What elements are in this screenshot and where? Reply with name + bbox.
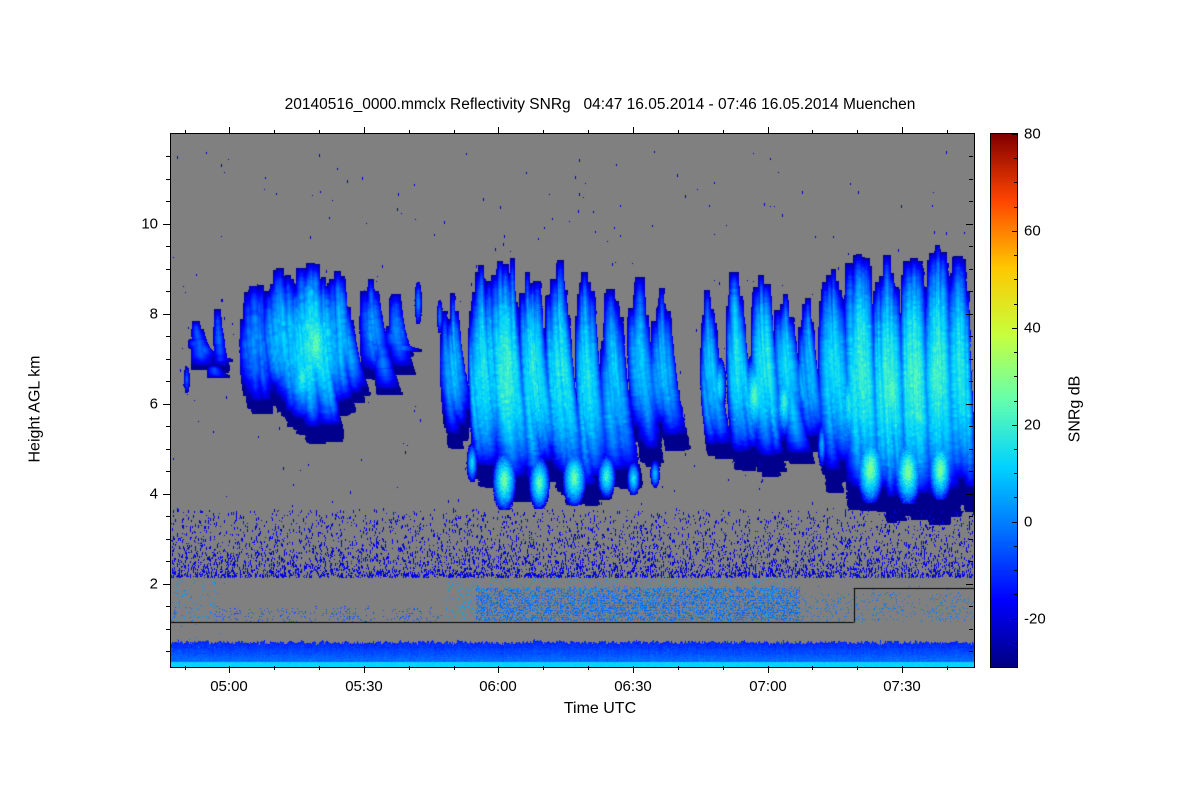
y-tick-minor-right (969, 359, 973, 360)
colorbar-tick (1012, 328, 1017, 329)
x-tick-major-top (229, 127, 230, 134)
x-tick-minor-top (543, 130, 544, 134)
y-tick-minor (166, 516, 170, 517)
y-tick-minor-right (969, 629, 973, 630)
colorbar-tick (1012, 231, 1017, 232)
radar-figure: 20140516_0000.mmclx Reflectivity SNRg 04… (0, 0, 1200, 800)
y-tick-minor-right (969, 201, 973, 202)
x-tick-minor-top (857, 130, 858, 134)
x-tick-label: 07:30 (867, 678, 937, 695)
y-tick-minor-right (969, 606, 973, 607)
y-tick-minor (166, 606, 170, 607)
y-tick-label: 8 (118, 306, 158, 323)
y-tick-major-right (966, 314, 973, 315)
colorbar-tick-minor (1014, 352, 1017, 353)
page-title: 20140516_0000.mmclx Reflectivity SNRg 04… (0, 96, 1200, 114)
colorbar-tick (1012, 522, 1017, 523)
x-tick-minor (812, 666, 813, 670)
y-tick-label: 4 (118, 486, 158, 503)
y-tick-minor (166, 539, 170, 540)
y-tick-minor-right (969, 269, 973, 270)
colorbar-tick-label: 0 (1024, 514, 1032, 531)
x-tick-major (364, 666, 365, 673)
y-tick-major-right (966, 404, 973, 405)
colorbar-tick-minor (1014, 594, 1017, 595)
x-tick-label: 05:30 (329, 678, 399, 695)
x-tick-minor-top (274, 130, 275, 134)
x-axis-label: Time UTC (0, 700, 1200, 718)
x-tick-minor (723, 666, 724, 670)
y-tick-minor (166, 561, 170, 562)
x-tick-minor-top (723, 130, 724, 134)
y-tick-major (163, 494, 170, 495)
x-tick-minor-top (678, 130, 679, 134)
y-tick-label: 10 (118, 216, 158, 233)
y-tick-major-right (966, 224, 973, 225)
y-tick-minor (166, 156, 170, 157)
x-tick-minor (454, 666, 455, 670)
x-tick-major (633, 666, 634, 673)
plot-axes-area[interactable] (170, 133, 975, 668)
x-tick-minor (185, 666, 186, 670)
y-tick-major (163, 314, 170, 315)
y-tick-minor (166, 269, 170, 270)
y-tick-minor (166, 246, 170, 247)
colorbar-tick-minor (1014, 473, 1017, 474)
x-tick-major (498, 666, 499, 673)
x-tick-major (229, 666, 230, 673)
y-tick-minor-right (969, 156, 973, 157)
colorbar-tick-minor (1014, 158, 1017, 159)
x-tick-minor (678, 666, 679, 670)
colorbar-tick-minor (1014, 546, 1017, 547)
x-tick-minor-top (812, 130, 813, 134)
x-tick-label: 07:00 (733, 678, 803, 695)
colorbar-tick-label: 60 (1024, 223, 1041, 240)
y-tick-minor-right (969, 246, 973, 247)
x-tick-major-top (498, 127, 499, 134)
x-tick-minor-top (185, 130, 186, 134)
x-tick-minor-top (319, 130, 320, 134)
colorbar-tick (1012, 619, 1017, 620)
y-axis-label: Height AGL km (27, 355, 45, 462)
colorbar-tick-minor (1014, 667, 1017, 668)
x-tick-minor (543, 666, 544, 670)
x-tick-minor-top (947, 130, 948, 134)
y-tick-minor-right (969, 651, 973, 652)
y-tick-minor-right (969, 426, 973, 427)
colorbar-tick (1012, 134, 1017, 135)
colorbar-tick-minor (1014, 376, 1017, 377)
x-tick-minor (947, 666, 948, 670)
colorbar-tick-minor (1014, 207, 1017, 208)
colorbar-tick-label: -20 (1024, 611, 1046, 628)
x-tick-minor (588, 666, 589, 670)
y-tick-minor (166, 359, 170, 360)
x-tick-label: 05:00 (194, 678, 264, 695)
y-tick-minor (166, 629, 170, 630)
colorbar-tick-minor (1014, 497, 1017, 498)
colorbar-tick-minor (1014, 279, 1017, 280)
x-tick-major-top (364, 127, 365, 134)
y-tick-minor-right (969, 179, 973, 180)
y-tick-major-right (966, 584, 973, 585)
x-tick-major-top (633, 127, 634, 134)
x-tick-minor (274, 666, 275, 670)
x-tick-major-top (902, 127, 903, 134)
y-tick-minor-right (969, 291, 973, 292)
y-tick-label: 2 (118, 576, 158, 593)
y-tick-minor (166, 201, 170, 202)
y-tick-major (163, 224, 170, 225)
colorbar-tick-minor (1014, 304, 1017, 305)
x-tick-major (902, 666, 903, 673)
y-tick-minor (166, 651, 170, 652)
x-tick-label: 06:30 (598, 678, 668, 695)
y-tick-major (163, 404, 170, 405)
y-tick-minor-right (969, 381, 973, 382)
y-tick-minor (166, 381, 170, 382)
y-tick-minor-right (969, 471, 973, 472)
colorbar-tick-minor (1014, 643, 1017, 644)
y-tick-label: 6 (118, 396, 158, 413)
colorbar-tick-minor (1014, 449, 1017, 450)
reflectivity-heatmap-canvas (171, 134, 974, 667)
colorbar-tick-minor (1014, 182, 1017, 183)
y-tick-minor (166, 449, 170, 450)
y-tick-minor (166, 471, 170, 472)
x-tick-minor-top (588, 130, 589, 134)
colorbar-tick-label: 40 (1024, 320, 1041, 337)
x-tick-major-top (768, 127, 769, 134)
y-tick-minor (166, 426, 170, 427)
y-tick-minor (166, 336, 170, 337)
colorbar-axis-label: SNRg dB (1066, 376, 1084, 443)
colorbar-tick-label: 20 (1024, 417, 1041, 434)
x-tick-minor (319, 666, 320, 670)
y-tick-minor-right (969, 561, 973, 562)
colorbar-tick-minor (1014, 570, 1017, 571)
y-tick-minor-right (969, 449, 973, 450)
y-tick-major-right (966, 494, 973, 495)
colorbar-tick-label: 80 (1024, 126, 1041, 143)
y-tick-minor-right (969, 336, 973, 337)
x-tick-minor-top (454, 130, 455, 134)
y-tick-minor-right (969, 516, 973, 517)
x-tick-minor (857, 666, 858, 670)
x-tick-minor (409, 666, 410, 670)
x-tick-major (768, 666, 769, 673)
colorbar-tick-minor (1014, 401, 1017, 402)
y-tick-minor (166, 179, 170, 180)
colorbar-tick (1012, 425, 1017, 426)
x-tick-label: 06:00 (463, 678, 533, 695)
x-tick-minor-top (409, 130, 410, 134)
y-tick-minor-right (969, 539, 973, 540)
colorbar-tick-minor (1014, 255, 1017, 256)
y-tick-minor (166, 291, 170, 292)
y-tick-major (163, 584, 170, 585)
